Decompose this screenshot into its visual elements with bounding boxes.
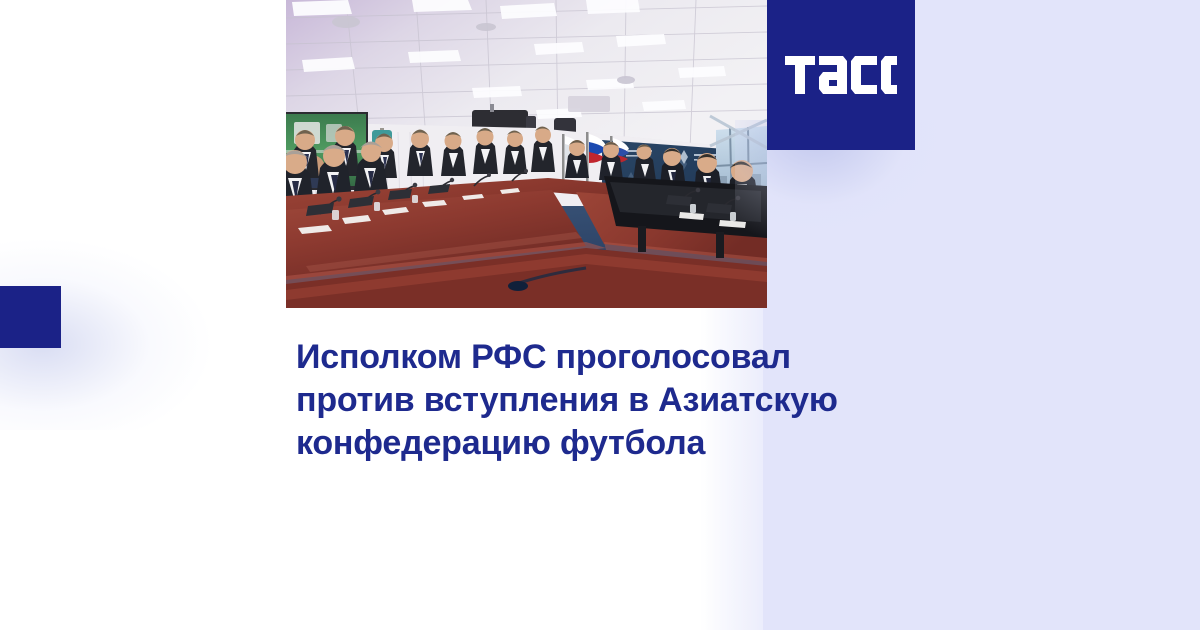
page-title: Исполком РФС проголосовал против вступле… [296,336,896,465]
decorative-square [0,286,61,348]
article-photo [286,0,767,308]
tass-logo[interactable] [767,0,915,150]
photo-illustration [286,0,767,308]
tass-share-card: Исполком РФС проголосовал против вступле… [0,0,1200,630]
tass-logo-mark [785,56,897,94]
